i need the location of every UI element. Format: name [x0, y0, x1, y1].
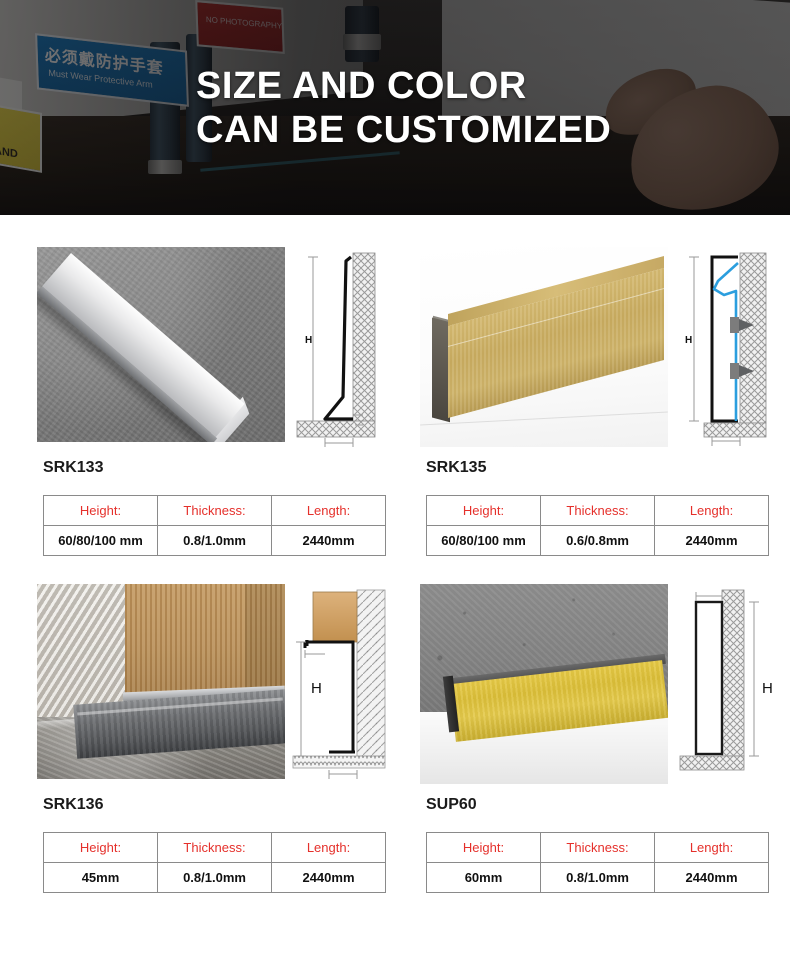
spec-value-thickness: 0.8/1.0mm: [158, 526, 272, 556]
spec-value-length: 2440mm: [272, 526, 386, 556]
product-card-srk136: H SRK136 Height: Thickness: Length: 45mm…: [0, 556, 395, 893]
spec-value-height: 60mm: [427, 863, 541, 893]
spec-header-row: Height: Thickness: Length:: [44, 833, 386, 863]
spec-header-thickness: Thickness:: [158, 496, 272, 526]
spec-header-length: Length:: [272, 496, 386, 526]
dimension-label-h: H: [305, 335, 312, 346]
spec-header-row: Height: Thickness: Length:: [427, 833, 769, 863]
product-media: H: [420, 247, 772, 447]
technical-drawing-srk136: H: [291, 584, 377, 784]
banner-title-line-1: SIZE AND COLOR: [196, 64, 790, 108]
hero-banner: AND 必须戴防护手套 Must Wear Protective Arm NO …: [0, 0, 790, 215]
spec-header-thickness: Thickness:: [158, 833, 272, 863]
product-media: H: [420, 584, 772, 784]
spec-value-height: 60/80/100 mm: [44, 526, 158, 556]
spec-value-thickness: 0.8/1.0mm: [158, 863, 272, 893]
spec-header-row: Height: Thickness: Length:: [427, 496, 769, 526]
spec-value-row: 60/80/100 mm 0.8/1.0mm 2440mm: [44, 526, 386, 556]
spec-header-thickness: Thickness:: [541, 496, 655, 526]
spec-header-height: Height:: [427, 496, 541, 526]
banner-title-line-2: CAN BE CUSTOMIZED: [196, 108, 790, 152]
spec-header-length: Length:: [655, 833, 769, 863]
product-card-srk135: H SRK135 Height: Thickness: Length: 60/8…: [395, 215, 790, 556]
spec-header-height: Height:: [427, 833, 541, 863]
spec-table-srk133: Height: Thickness: Length: 60/80/100 mm …: [43, 495, 386, 556]
spec-value-height: 45mm: [44, 863, 158, 893]
spec-table-sup60: Height: Thickness: Length: 60mm 0.8/1.0m…: [426, 832, 769, 893]
product-spec-page: AND 必须戴防护手套 Must Wear Protective Arm NO …: [0, 0, 790, 972]
product-media: H: [37, 584, 377, 784]
spec-value-row: 60mm 0.8/1.0mm 2440mm: [427, 863, 769, 893]
product-photo-srk135: [420, 247, 668, 447]
spec-header-length: Length:: [655, 496, 769, 526]
spec-value-height: 60/80/100 mm: [427, 526, 541, 556]
spec-header-height: Height:: [44, 496, 158, 526]
product-code-srk136: SRK136: [43, 796, 377, 814]
spec-header-height: Height:: [44, 833, 158, 863]
product-photo-srk133: [37, 247, 285, 442]
spec-header-row: Height: Thickness: Length:: [44, 496, 386, 526]
spec-value-length: 2440mm: [655, 863, 769, 893]
dimension-label-h: H: [685, 335, 692, 346]
product-photo-srk136: [37, 584, 285, 779]
spec-header-length: Length:: [272, 833, 386, 863]
technical-drawing-sup60: H: [674, 584, 772, 784]
product-media: H: [37, 247, 377, 447]
product-code-srk135: SRK135: [426, 459, 772, 477]
spec-table-srk135: Height: Thickness: Length: 60/80/100 mm …: [426, 495, 769, 556]
product-grid: H SRK133 Height: Thickness: Length: 60/8…: [0, 215, 790, 893]
technical-drawing-srk133: H: [291, 247, 377, 447]
product-card-sup60: H SUP60 Height: Thickness: Length: 60mm …: [395, 556, 790, 893]
technical-drawing-srk135: H: [674, 247, 772, 447]
spec-value-length: 2440mm: [655, 526, 769, 556]
product-card-srk133: H SRK133 Height: Thickness: Length: 60/8…: [0, 215, 395, 556]
dimension-label-h: H: [762, 680, 773, 697]
spec-value-thickness: 0.6/0.8mm: [541, 526, 655, 556]
product-code-sup60: SUP60: [426, 796, 772, 814]
product-code-srk133: SRK133: [43, 459, 377, 477]
spec-header-thickness: Thickness:: [541, 833, 655, 863]
banner-title: SIZE AND COLOR CAN BE CUSTOMIZED: [0, 0, 790, 215]
spec-value-row: 45mm 0.8/1.0mm 2440mm: [44, 863, 386, 893]
spec-table-srk136: Height: Thickness: Length: 45mm 0.8/1.0m…: [43, 832, 386, 893]
spec-value-row: 60/80/100 mm 0.6/0.8mm 2440mm: [427, 526, 769, 556]
spec-value-length: 2440mm: [272, 863, 386, 893]
product-photo-sup60: [420, 584, 668, 784]
dimension-label-h: H: [311, 680, 322, 697]
spec-value-thickness: 0.8/1.0mm: [541, 863, 655, 893]
